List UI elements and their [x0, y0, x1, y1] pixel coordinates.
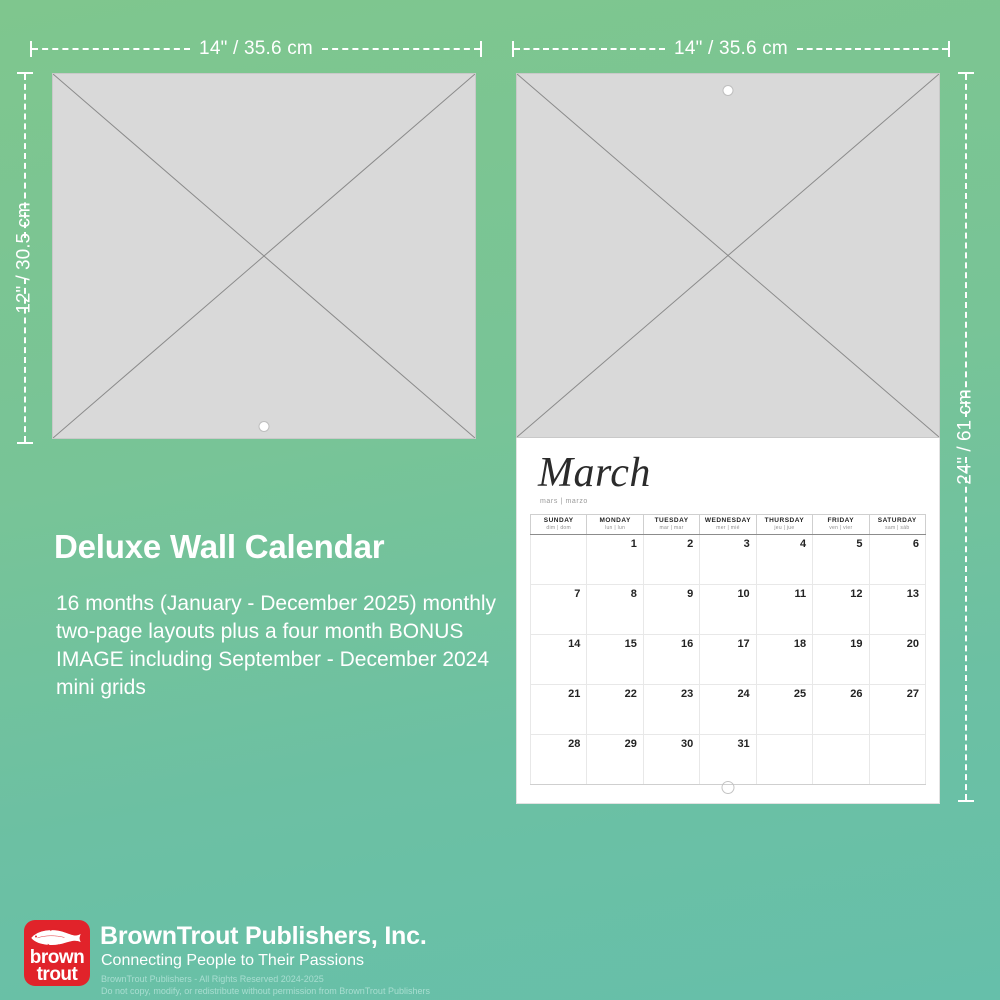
- calendar-day-cell[interactable]: 17: [700, 635, 756, 685]
- dimension-label-right-height: 24" / 61 cm: [946, 389, 986, 484]
- calendar-weekday-tuesday: TUESDAY mar | mar: [643, 515, 699, 535]
- brand-name: BrownTrout Publishers, Inc.: [100, 922, 427, 951]
- calendar-day-cell[interactable]: 24: [700, 685, 756, 735]
- weekday-label-alt: jeu | jue: [757, 525, 812, 531]
- calendar-day-cell[interactable]: 11: [756, 585, 812, 635]
- calendar-day-cell[interactable]: 25: [756, 685, 812, 735]
- weekday-label-en: TUESDAY: [644, 517, 699, 524]
- calendar-day-cell[interactable]: 8: [587, 585, 643, 635]
- calendar-image-placeholder-left: [52, 73, 476, 439]
- product-description: 16 months (January - December 2025) mont…: [56, 590, 526, 702]
- dimension-label-left-width: 14" / 35.6 cm: [190, 38, 322, 60]
- calendar-image-placeholder-right: [516, 73, 940, 438]
- calendar-weekday-saturday: SATURDAY sam | sáb: [869, 515, 925, 535]
- calendar-weekday-friday: FRIDAY ven | vier: [813, 515, 869, 535]
- calendar-day-cell[interactable]: [813, 735, 869, 785]
- dimension-ruler-left-height: 12" / 30.5 cm: [14, 72, 36, 444]
- calendar-day-cell[interactable]: 3: [700, 535, 756, 585]
- copyright-notice: BrownTrout Publishers - All Rights Reser…: [101, 974, 430, 997]
- copyright-line-1: BrownTrout Publishers - All Rights Reser…: [101, 974, 430, 986]
- dimension-ruler-left-width: 14" / 35.6 cm: [30, 38, 482, 60]
- ruler-line-start: [32, 48, 190, 50]
- dimension-ruler-right-width: 14" / 35.6 cm: [512, 38, 950, 60]
- dimension-label-right-width: 14" / 35.6 cm: [665, 38, 797, 60]
- ruler-line-end: [322, 48, 480, 50]
- punch-hole-icon: [723, 85, 734, 96]
- calendar-week-row: 7 8 9 10 11 12 13: [531, 585, 926, 635]
- weekday-label-alt: mer | mié: [700, 525, 755, 531]
- calendar-day-cell[interactable]: 30: [643, 735, 699, 785]
- calendar-day-cell[interactable]: [531, 535, 587, 585]
- ruler-cap-end: [480, 41, 482, 57]
- dimension-ruler-right-height: 24" / 61 cm: [955, 72, 977, 802]
- calendar-day-cell[interactable]: 29: [587, 735, 643, 785]
- calendar-day-cell[interactable]: 31: [700, 735, 756, 785]
- calendar-day-cell[interactable]: 5: [813, 535, 869, 585]
- weekday-label-en: MONDAY: [587, 517, 642, 524]
- calendar-weekday-wednesday: WEDNESDAY mer | mié: [700, 515, 756, 535]
- weekday-label-en: WEDNESDAY: [700, 517, 755, 524]
- calendar-day-cell[interactable]: 13: [869, 585, 925, 635]
- calendar-day-cell[interactable]: [869, 735, 925, 785]
- calendar-day-cell[interactable]: 19: [813, 635, 869, 685]
- punch-hole-icon: [722, 781, 735, 794]
- ruler-line-bottom: [965, 457, 967, 800]
- calendar-grid-page: March mars | marzo SUNDAY dim | dom MOND…: [516, 438, 940, 804]
- weekday-label-en: SATURDAY: [870, 517, 925, 524]
- calendar-table: SUNDAY dim | dom MONDAY lun | lun TUESDA…: [530, 514, 926, 785]
- weekday-label-alt: lun | lun: [587, 525, 642, 531]
- calendar-day-cell[interactable]: 22: [587, 685, 643, 735]
- browntrout-logo: brown trout: [24, 920, 90, 986]
- calendar-day-cell[interactable]: 16: [643, 635, 699, 685]
- ruler-cap-bottom: [17, 442, 33, 444]
- calendar-day-cell[interactable]: [756, 735, 812, 785]
- calendar-day-cell[interactable]: 10: [700, 585, 756, 635]
- brand-tagline: Connecting People to Their Passions: [101, 952, 364, 970]
- calendar-day-cell[interactable]: 21: [531, 685, 587, 735]
- trout-fish-icon: [29, 926, 85, 948]
- calendar-month-subtitle: mars | marzo: [530, 498, 926, 505]
- calendar-day-cell[interactable]: 27: [869, 685, 925, 735]
- calendar-day-cell[interactable]: 7: [531, 585, 587, 635]
- calendar-weekday-header-row: SUNDAY dim | dom MONDAY lun | lun TUESDA…: [531, 515, 926, 535]
- weekday-label-en: THURSDAY: [757, 517, 812, 524]
- weekday-label-en: FRIDAY: [813, 517, 868, 524]
- calendar-weekday-monday: MONDAY lun | lun: [587, 515, 643, 535]
- calendar-month-title: March: [530, 452, 926, 494]
- placeholder-cross-icon: [53, 74, 475, 438]
- calendar-day-cell[interactable]: 15: [587, 635, 643, 685]
- ruler-line-end: [797, 48, 948, 50]
- calendar-day-cell[interactable]: 28: [531, 735, 587, 785]
- calendar-week-row: 21 22 23 24 25 26 27: [531, 685, 926, 735]
- calendar-weekday-sunday: SUNDAY dim | dom: [531, 515, 587, 535]
- weekday-label-en: SUNDAY: [531, 517, 586, 524]
- weekday-label-alt: dim | dom: [531, 525, 586, 531]
- dimension-label-left-height: 12" / 30.5 cm: [5, 202, 45, 313]
- calendar-weekday-thursday: THURSDAY jeu | jue: [756, 515, 812, 535]
- weekday-label-alt: ven | vier: [813, 525, 868, 531]
- calendar-day-cell[interactable]: 23: [643, 685, 699, 735]
- calendar-day-cell[interactable]: 18: [756, 635, 812, 685]
- calendar-day-cell[interactable]: 26: [813, 685, 869, 735]
- footer: brown trout BrownTrout Publishers, Inc. …: [0, 904, 1000, 1000]
- calendar-week-row: 14 15 16 17 18 19 20: [531, 635, 926, 685]
- placeholder-cross-icon: [517, 74, 939, 437]
- calendar-day-cell[interactable]: 12: [813, 585, 869, 635]
- calendar-day-cell[interactable]: 4: [756, 535, 812, 585]
- calendar-day-cell[interactable]: 9: [643, 585, 699, 635]
- weekday-label-alt: sam | sáb: [870, 525, 925, 531]
- calendar-day-cell[interactable]: 14: [531, 635, 587, 685]
- calendar-day-cell[interactable]: 2: [643, 535, 699, 585]
- calendar-day-cell[interactable]: 1: [587, 535, 643, 585]
- calendar-day-cell[interactable]: 6: [869, 535, 925, 585]
- calendar-week-row: 1 2 3 4 5 6: [531, 535, 926, 585]
- copyright-line-2: Do not copy, modify, or redistribute wit…: [101, 986, 430, 998]
- ruler-cap-end: [948, 41, 950, 57]
- weekday-label-alt: mar | mar: [644, 525, 699, 531]
- ruler-line-top: [965, 74, 967, 417]
- ruler-line-start: [514, 48, 665, 50]
- calendar-week-row: 28 29 30 31: [531, 735, 926, 785]
- ruler-cap-bottom: [958, 800, 974, 802]
- logo-word-trout: trout: [37, 966, 78, 983]
- page-title: Deluxe Wall Calendar: [54, 528, 384, 566]
- calendar-day-cell[interactable]: 20: [869, 635, 925, 685]
- punch-hole-icon: [259, 421, 270, 432]
